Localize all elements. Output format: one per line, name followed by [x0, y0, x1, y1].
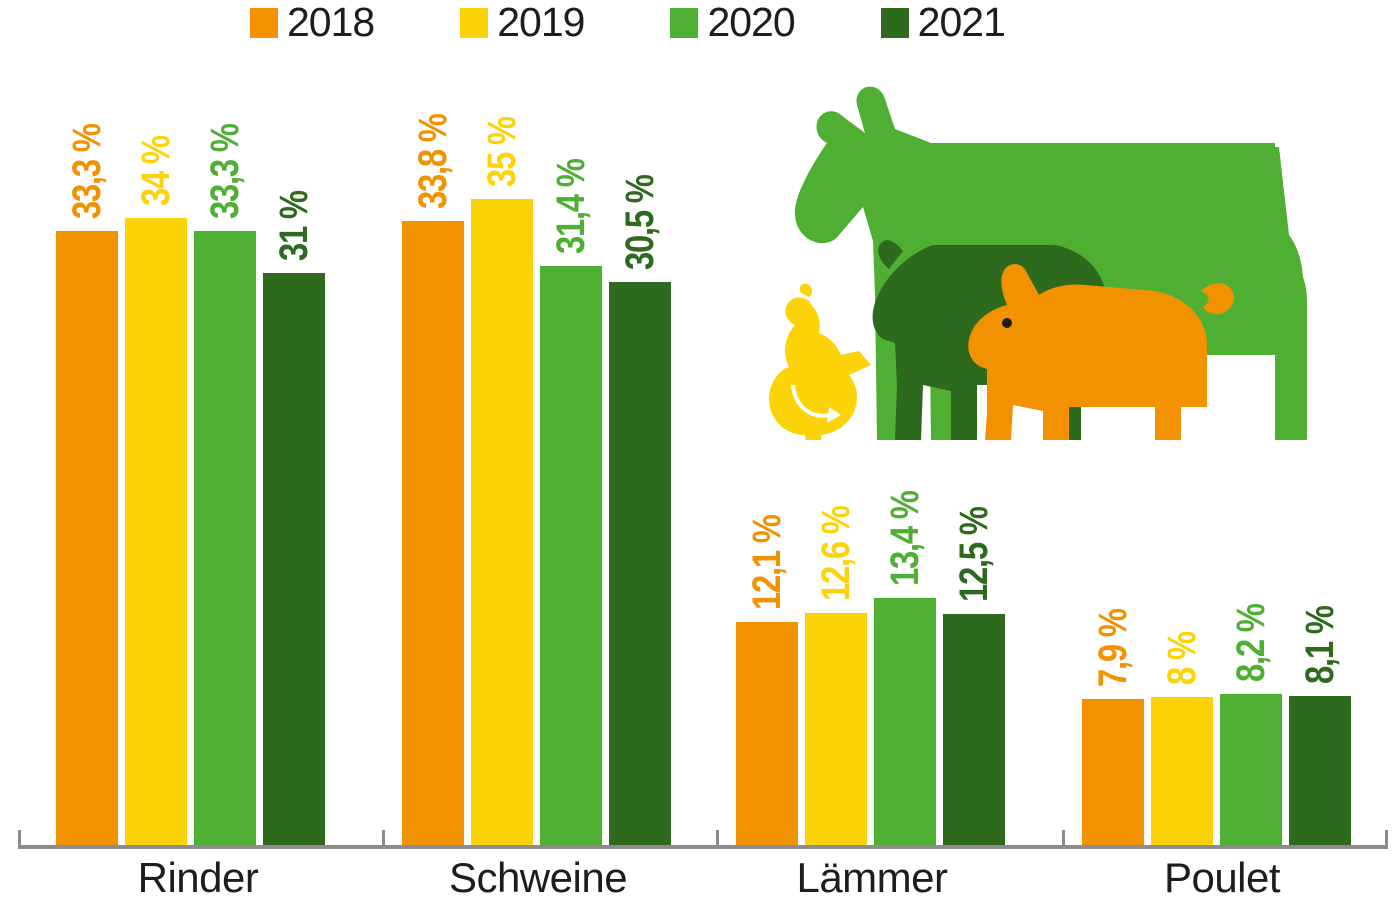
x-axis-tick: [382, 830, 385, 846]
bar-group-bars: 33,8 %35 %31,4 %30,5 %: [402, 145, 678, 845]
bar-rect[interactable]: [736, 622, 798, 845]
bar-rinder-2018[interactable]: 33,3 %: [56, 145, 118, 845]
x-axis-category-label: Rinder: [38, 855, 358, 901]
bar-value-label: 35 %: [482, 102, 522, 187]
bar-rect[interactable]: [874, 598, 936, 845]
bar-value-label-text: 7,9 %: [1093, 609, 1133, 687]
bar-rect[interactable]: [471, 199, 533, 845]
bar-value-label-text: 13,4 %: [885, 491, 925, 586]
bar-value-label: 8,2 %: [1231, 587, 1271, 682]
bar-rect[interactable]: [56, 231, 118, 845]
bar-value-label-text: 33,3 %: [67, 124, 107, 219]
bar-value-label: 33,8 %: [413, 93, 453, 209]
x-axis-tick: [716, 830, 719, 846]
bar-value-label: 31,4 %: [551, 138, 591, 254]
bar-value-label-text: 12,1 %: [747, 515, 787, 610]
farm-animals-illustration: [755, 55, 1355, 440]
bar-value-label-text: 33,8 %: [413, 114, 453, 209]
bar-rect[interactable]: [540, 266, 602, 845]
bar-rect[interactable]: [1151, 697, 1213, 845]
bar-rect[interactable]: [194, 231, 256, 845]
bar-rinder-2019[interactable]: 34 %: [125, 145, 187, 845]
bar-value-label-text: 8 %: [1162, 632, 1202, 685]
x-axis-category-label: Poulet: [1062, 855, 1382, 901]
bar-schweine-2021[interactable]: 30,5 %: [609, 145, 671, 845]
bar-value-label: 33,3 %: [67, 103, 107, 219]
x-axis-category-label: Lämmer: [712, 855, 1032, 901]
bar-rect[interactable]: [125, 218, 187, 845]
bar-rect[interactable]: [1220, 694, 1282, 845]
bar-value-label-text: 12,6 %: [816, 506, 856, 601]
bar-rinder-2021[interactable]: 31 %: [263, 145, 325, 845]
chicken-silhouette: [769, 284, 871, 440]
bar-schweine-2018[interactable]: 33,8 %: [402, 145, 464, 845]
bar-value-label-text: 31,4 %: [551, 159, 591, 254]
bar-value-label: 7,9 %: [1093, 592, 1133, 687]
x-axis-category-label: Schweine: [378, 855, 698, 901]
bar-schweine-2019[interactable]: 35 %: [471, 145, 533, 845]
bar-value-label-text: 35 %: [482, 117, 522, 187]
x-axis-tick: [18, 830, 21, 846]
bar-rect[interactable]: [805, 613, 867, 845]
bar-value-label-text: 33,3 %: [205, 124, 245, 219]
bar-rect[interactable]: [263, 273, 325, 845]
bar-value-label: 13,4 %: [885, 470, 925, 586]
bar-value-label-text: 30,5 %: [620, 175, 660, 270]
bar-group-bars: 33,3 %34 %33,3 %31 %: [56, 145, 332, 845]
bar-value-label: 8 %: [1162, 621, 1202, 685]
bar-value-label-text: 34 %: [136, 136, 176, 206]
bar-value-label: 34 %: [136, 121, 176, 206]
bar-value-label: 8,1 %: [1300, 589, 1340, 684]
bar-rinder-2020[interactable]: 33,3 %: [194, 145, 256, 845]
bar-rect[interactable]: [1082, 699, 1144, 845]
bar-chart: 2018201920202021 33,3 %34 %33,3 %31 %Rin…: [0, 0, 1400, 903]
bar-value-label: 12,6 %: [816, 485, 856, 601]
bar-value-label-text: 8,1 %: [1300, 606, 1340, 684]
bar-value-label-text: 31 %: [274, 191, 314, 261]
bar-value-label: 33,3 %: [205, 103, 245, 219]
x-axis-tick: [1062, 830, 1065, 846]
bar-value-label-text: 12,5 %: [954, 507, 994, 602]
bar-value-label: 31 %: [274, 176, 314, 261]
bar-value-label: 12,5 %: [954, 486, 994, 602]
x-axis-line: [18, 845, 1388, 849]
x-axis-tick-end: [1385, 830, 1388, 846]
bar-rect[interactable]: [402, 221, 464, 845]
bar-schweine-2020[interactable]: 31,4 %: [540, 145, 602, 845]
bar-value-label: 30,5 %: [620, 154, 660, 270]
bar-rect[interactable]: [609, 282, 671, 845]
bar-value-label-text: 8,2 %: [1231, 604, 1271, 682]
bar-value-label: 12,1 %: [747, 494, 787, 610]
bar-rect[interactable]: [1289, 696, 1351, 845]
bar-rect[interactable]: [943, 614, 1005, 845]
